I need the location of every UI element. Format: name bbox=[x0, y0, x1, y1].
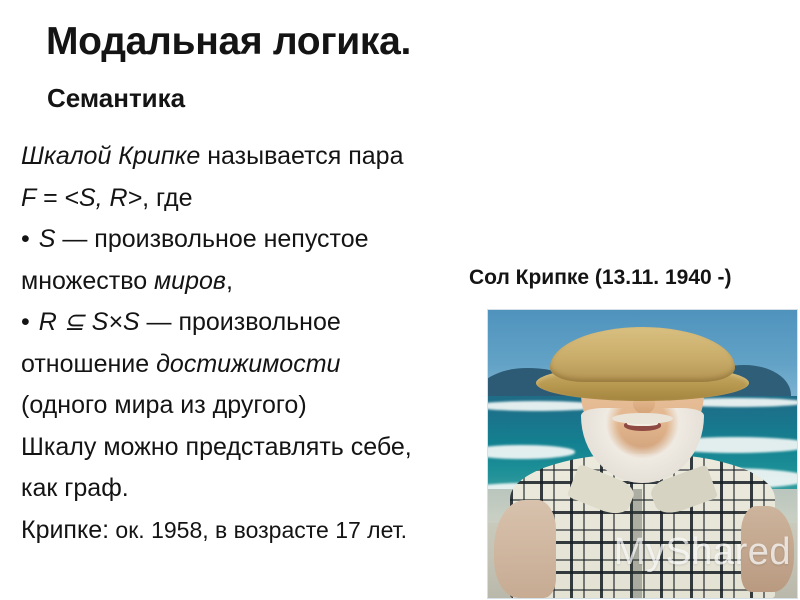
page-title: Модальная логика. bbox=[46, 22, 411, 63]
text-line-1-rest: называется пара bbox=[200, 142, 403, 170]
photo-scene: MyShared bbox=[488, 310, 797, 598]
kripke-note-detail: ок. 1958, в возрасте 17 лет. bbox=[109, 517, 407, 543]
formula-relation-subset: R ⊆ S×S bbox=[39, 308, 140, 336]
text-line-5: • R ⊆ S×S — произвольное bbox=[21, 302, 471, 344]
formula-frame-definition: F = <S, R> bbox=[21, 184, 142, 212]
straw-hat bbox=[550, 327, 735, 382]
text-line-2-rest: , где bbox=[142, 184, 192, 212]
text-line-3: • S — произвольное непустое bbox=[21, 219, 471, 261]
text-line-5-rest: — произвольное bbox=[140, 308, 341, 336]
kripke-age-note: Крипке: ок. 1958, в возрасте 17 лет. bbox=[21, 510, 471, 552]
photo-caption: Сол Крипке (13.11. 1940 -) bbox=[469, 266, 732, 290]
text-line-4: множество миров, bbox=[21, 261, 471, 303]
text-line-8: Шкалу можно представлять себе, bbox=[21, 427, 471, 469]
shirt-placket bbox=[630, 489, 642, 598]
page-subtitle: Семантика bbox=[47, 84, 185, 113]
moustache bbox=[612, 413, 674, 425]
text-line-4-lead: множество bbox=[21, 267, 154, 295]
kripke-note-label: Крипке: bbox=[21, 516, 109, 544]
bullet-marker-1: • bbox=[21, 225, 39, 253]
text-line-2: F = <S, R>, где bbox=[21, 178, 471, 220]
text-line-6-lead: отношение bbox=[21, 350, 156, 378]
bullet-marker-2: • bbox=[21, 308, 39, 336]
text-line-3-rest: — произвольное непустое bbox=[55, 225, 368, 253]
text-line-6: отношение достижимости bbox=[21, 344, 471, 386]
person-saul-kripke bbox=[488, 310, 797, 598]
term-accessibility: достижимости bbox=[156, 350, 340, 378]
text-line-1: Шкалой Крипке называется пара bbox=[21, 136, 471, 178]
definition-text-block: Шкалой Крипке называется пара F = <S, R>… bbox=[21, 136, 471, 551]
text-line-7: (одного мира из другого) bbox=[21, 385, 471, 427]
slide: Модальная логика. Семантика Шкалой Крипк… bbox=[0, 0, 800, 600]
symbol-s: S bbox=[39, 225, 56, 253]
text-line-9: как граф. bbox=[21, 468, 471, 510]
term-kripke-frame: Шкалой Крипке bbox=[21, 142, 200, 170]
text-line-4-tail: , bbox=[226, 267, 233, 295]
arm-right bbox=[741, 506, 794, 592]
arm-left bbox=[494, 500, 556, 598]
portrait-photo: MyShared bbox=[487, 309, 798, 599]
term-worlds: миров bbox=[154, 267, 226, 295]
